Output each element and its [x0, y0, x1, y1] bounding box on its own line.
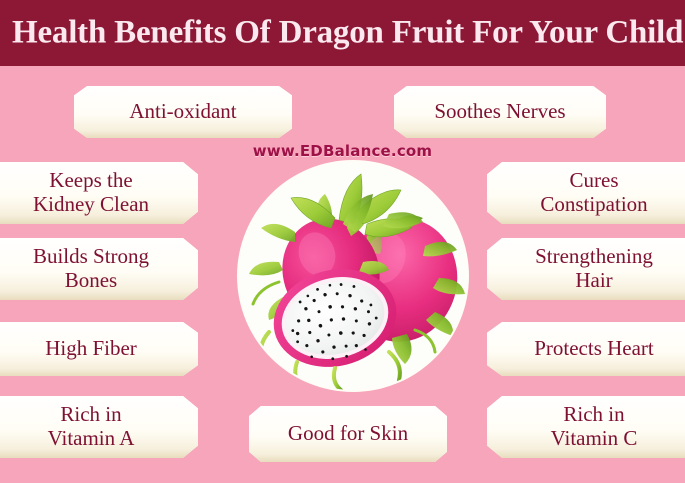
- benefit-label: High Fiber: [45, 337, 137, 361]
- page-title: Health Benefits Of Dragon Fruit For Your…: [12, 17, 683, 50]
- benefit-builds-strong-bones: Builds Strong Bones: [0, 238, 198, 300]
- benefit-label: Cures Constipation: [540, 169, 647, 216]
- infographic-poster: Health Benefits Of Dragon Fruit For Your…: [0, 0, 685, 483]
- benefit-label: Rich in Vitamin A: [48, 403, 135, 450]
- benefit-label: Anti-oxidant: [129, 100, 236, 124]
- benefit-keeps-kidney-clean: Keeps the Kidney Clean: [0, 162, 198, 224]
- benefit-label: Strengthening Hair: [535, 245, 653, 292]
- benefit-label: Good for Skin: [288, 422, 408, 446]
- benefit-rich-in-vitamin-c: Rich in Vitamin C: [487, 396, 685, 458]
- benefit-label: Soothes Nerves: [434, 100, 565, 124]
- header-banner: Health Benefits Of Dragon Fruit For Your…: [0, 0, 685, 66]
- benefit-label: Keeps the Kidney Clean: [33, 169, 149, 216]
- benefit-soothes-nerves: Soothes Nerves: [394, 86, 606, 138]
- watermark-url: www.EDBalance.com: [0, 142, 685, 160]
- benefit-high-fiber: High Fiber: [0, 322, 198, 376]
- benefit-strengthening-hair: Strengthening Hair: [487, 238, 685, 300]
- benefit-label: Rich in Vitamin C: [551, 403, 638, 450]
- dragon-fruit-photo: [239, 162, 467, 390]
- benefit-rich-in-vitamin-a: Rich in Vitamin A: [0, 396, 198, 458]
- benefit-label: Protects Heart: [534, 337, 654, 361]
- benefit-anti-oxidant: Anti-oxidant: [74, 86, 292, 138]
- benefit-cures-constipation: Cures Constipation: [487, 162, 685, 224]
- benefit-good-for-skin: Good for Skin: [249, 406, 447, 462]
- benefit-protects-heart: Protects Heart: [487, 322, 685, 376]
- benefit-label: Builds Strong Bones: [33, 245, 149, 292]
